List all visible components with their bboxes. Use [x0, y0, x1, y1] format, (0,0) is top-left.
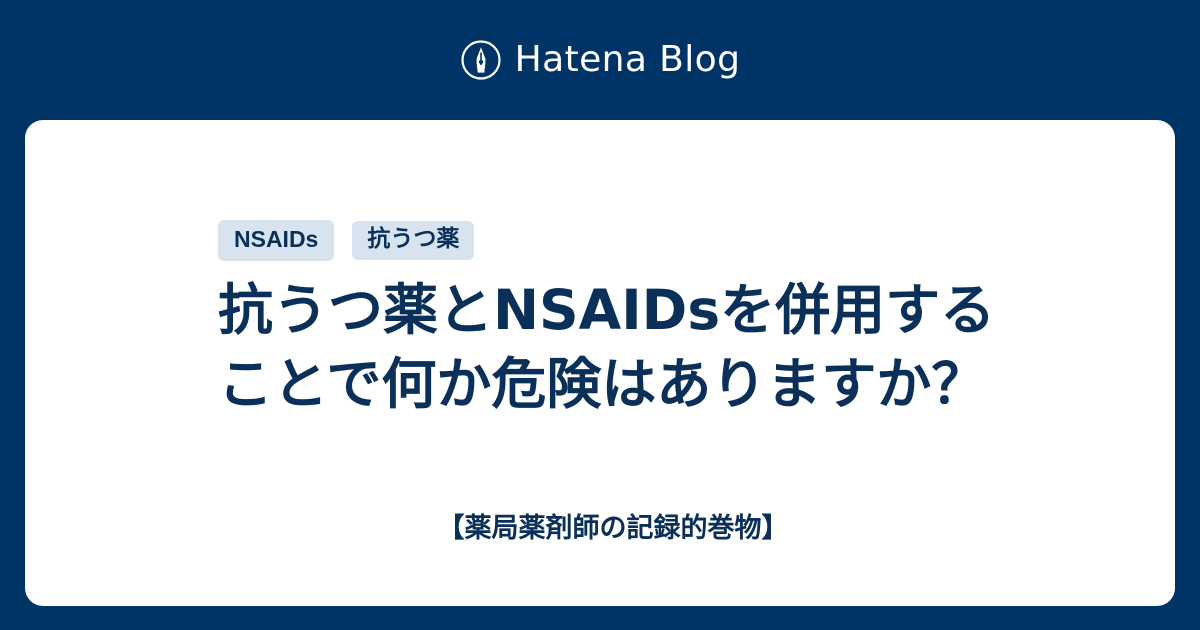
entry-title[interactable]: 抗うつ薬とNSAIDsを併用する ことで何か危険はありますか？: [218, 273, 1008, 421]
entry-card: NSAIDs 抗うつ薬 抗うつ薬とNSAIDsを併用する ことで何か危険はありま…: [25, 120, 1175, 606]
entry-title-line-1: 抗うつ薬とNSAIDsを併用する: [218, 273, 1008, 347]
ogp-card-root: Hatena Blog NSAIDs 抗うつ薬 抗うつ薬とNSAIDsを併用する…: [0, 0, 1200, 630]
tag-list: NSAIDs 抗うつ薬: [218, 220, 474, 261]
tag-badge-antidepressant[interactable]: 抗うつ薬: [352, 221, 474, 260]
hatena-pen-nib-icon: [460, 39, 502, 81]
brand-wordmark: Hatena Blog: [515, 42, 741, 78]
brand-header: Hatena Blog: [0, 0, 1200, 120]
tag-badge-nsaids[interactable]: NSAIDs: [218, 220, 334, 261]
entry-title-line-2: ことで何か危険はありますか？: [218, 347, 1008, 421]
entry-card-content: NSAIDs 抗うつ薬 抗うつ薬とNSAIDsを併用する ことで何か危険はありま…: [218, 120, 1008, 606]
blog-name[interactable]: 【薬局薬剤師の記録的巻物】: [218, 515, 1008, 542]
